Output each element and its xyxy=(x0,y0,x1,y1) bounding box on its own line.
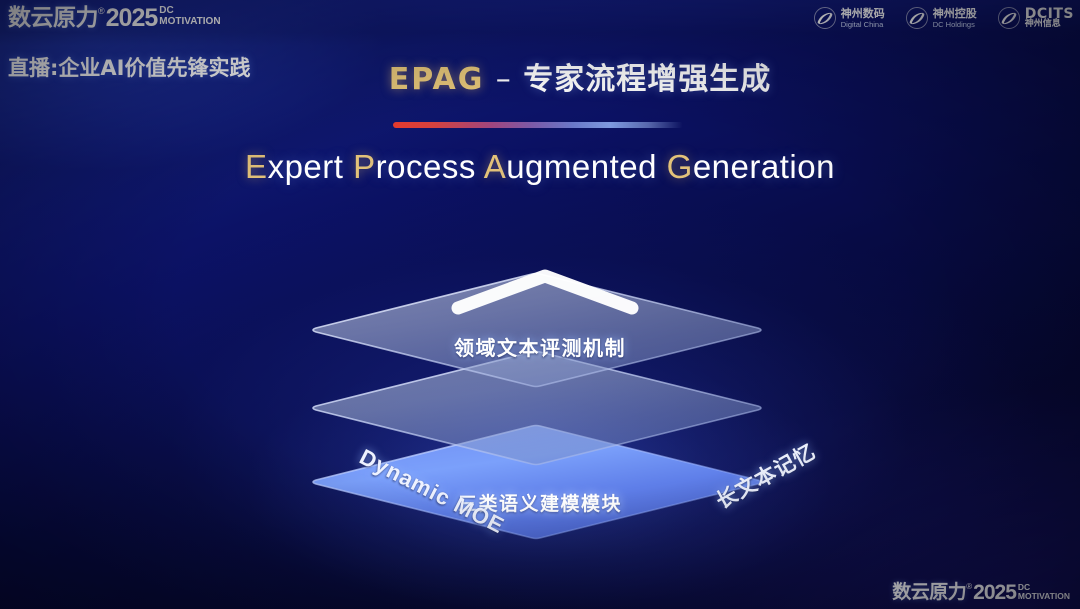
watermark-year: 2025 xyxy=(973,582,1016,603)
slide-canvas: 数云原力 ® 2025 DC MOTIVATION 直播:企业AI价值先锋实践 … xyxy=(0,0,1080,609)
title-separator: – xyxy=(496,62,512,97)
event-logo-motivation: MOTIVATION xyxy=(159,16,220,27)
sponsor-name-en: 神州信息 xyxy=(1025,20,1074,29)
title-chinese: 专家流程增强生成 xyxy=(523,62,771,97)
title-acronym: EPAG xyxy=(389,62,485,97)
sponsor-name-cn: 神州数码 xyxy=(841,8,885,20)
sponsor-logo-group: 神州数码 Digital China 神州控股 DC Holdings xyxy=(813,6,1074,30)
sponsor-name-en: Digital China xyxy=(841,20,885,29)
event-logo-brand: 数云原力 xyxy=(8,5,98,31)
sponsor-name-en: DC Holdings xyxy=(933,20,977,29)
sponsor-name-cn: 神州控股 xyxy=(933,8,977,20)
english-word-expert: Expert xyxy=(245,148,343,185)
watermark-brand: 数云原力 xyxy=(892,582,966,603)
swirl-logo-icon xyxy=(813,6,837,30)
watermark-motivation: MOTIVATION xyxy=(1018,592,1070,602)
english-subtitle: Expert Process Augmented Generation xyxy=(0,148,1080,186)
english-word-process: Process xyxy=(353,148,476,185)
sponsor-logo-digital-china: 神州数码 Digital China xyxy=(813,6,885,30)
layered-architecture-diagram: 三类语义建模模块 xyxy=(305,228,775,558)
sponsor-name-cn: DCITS xyxy=(1025,8,1074,20)
watermark-registered: ® xyxy=(966,582,972,592)
event-logo-dc: DC xyxy=(159,6,220,16)
swirl-logo-icon xyxy=(997,6,1021,30)
sponsor-logo-dcits: DCITS 神州信息 xyxy=(997,6,1074,30)
english-word-generation: Generation xyxy=(667,148,835,185)
footer-watermark: 数云原力 ® 2025 DC MOTIVATION xyxy=(892,582,1070,603)
event-logo-registered: ® xyxy=(98,5,105,17)
diagram-layer-top: 领域文本评测机制 xyxy=(305,228,775,388)
page-title: EPAG – 专家流程增强生成 xyxy=(0,54,1080,98)
event-logo: 数云原力 ® 2025 DC MOTIVATION xyxy=(8,5,221,31)
event-logo-year: 2025 xyxy=(106,5,158,31)
accent-divider-bar xyxy=(393,122,683,128)
sponsor-logo-dc-holdings: 神州控股 DC Holdings xyxy=(905,6,977,30)
swirl-logo-icon xyxy=(905,6,929,30)
english-word-augmented: Augmented xyxy=(484,148,657,185)
